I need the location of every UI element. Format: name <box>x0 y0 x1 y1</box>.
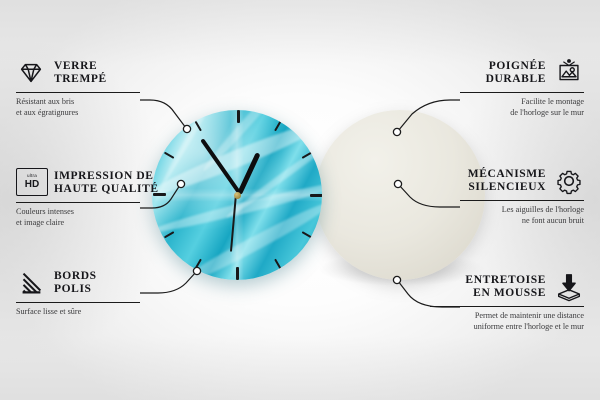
clock-tick <box>238 194 322 196</box>
feature-title-line2: DURABLE <box>486 73 546 87</box>
feature-sub-line2: et image claire <box>16 218 140 229</box>
hd-icon-main-text: HD <box>25 180 39 190</box>
center-pin <box>234 192 241 199</box>
feature-poignee-durable: POIGNÉE DURABLE Facilite le montage de l… <box>460 58 584 118</box>
feature-title-line1: POIGNÉE <box>486 60 546 74</box>
feature-sub-line2: ne font aucun bruit <box>460 216 584 227</box>
feature-title-line1: VERRE <box>54 60 107 74</box>
feature-sub-line2: de l'horloge sur le mur <box>460 108 584 119</box>
feature-title-line1: IMPRESSION DE <box>54 170 159 184</box>
feature-impression-haute-qualite: ultra HD IMPRESSION DE HAUTE QUALITÉ Cou… <box>16 168 140 228</box>
feature-title-line2: HAUTE QUALITÉ <box>54 183 159 197</box>
feature-sub-line1: Permet de maintenir une distance <box>430 311 584 322</box>
picture-hanger-icon <box>554 58 584 88</box>
ultra-hd-icon: ultra HD <box>16 168 46 198</box>
feature-title-line2: EN MOUSSE <box>465 287 546 301</box>
gear-icon <box>554 166 584 196</box>
feature-sub-line1: Les aiguilles de l'horloge <box>460 205 584 216</box>
feature-sub-line1: Facilite le montage <box>460 97 584 108</box>
foam-spacer-icon <box>554 272 584 302</box>
diamond-icon <box>16 58 46 88</box>
feature-sub-line2: et aux égratignures <box>16 108 140 119</box>
feature-rule <box>460 92 584 93</box>
feature-rule <box>16 92 140 93</box>
clock-front <box>152 110 322 280</box>
feature-bords-polis: BORDS POLIS Surface lisse et sûre <box>16 268 140 318</box>
feature-title-line1: BORDS <box>54 270 97 284</box>
feature-verre-trempe: VERRE TREMPÉ Résistant aux bris et aux é… <box>16 58 140 118</box>
feature-rule <box>16 202 140 203</box>
feature-sub-line1: Surface lisse et sûre <box>16 307 140 318</box>
feature-title-line1: ENTRETOISE <box>465 274 546 288</box>
feature-title-line2: POLIS <box>54 283 97 297</box>
feature-sub-line1: Couleurs intenses <box>16 207 140 218</box>
product-infographic: VERRE TREMPÉ Résistant aux bris et aux é… <box>0 0 600 400</box>
feature-rule <box>430 306 584 307</box>
feature-rule <box>16 302 140 303</box>
feature-title-line2: TREMPÉ <box>54 73 107 87</box>
feature-entretoise-en-mousse: ENTRETOISE EN MOUSSE Permet de maintenir… <box>430 272 584 332</box>
clock-tick <box>153 194 238 196</box>
feature-sub-line2: uniforme entre l'horloge et le mur <box>430 322 584 333</box>
feature-mecanisme-silencieux: MÉCANISME SILENCIEUX Les aiguilles de l'… <box>460 166 584 226</box>
polished-edges-icon <box>16 268 46 298</box>
clock-tick <box>237 110 239 195</box>
feature-rule <box>460 200 584 201</box>
clock-tick <box>237 195 239 280</box>
feature-sub-line1: Résistant aux bris <box>16 97 140 108</box>
feature-title-line2: SILENCIEUX <box>468 181 546 195</box>
feature-title-line1: MÉCANISME <box>468 168 546 182</box>
